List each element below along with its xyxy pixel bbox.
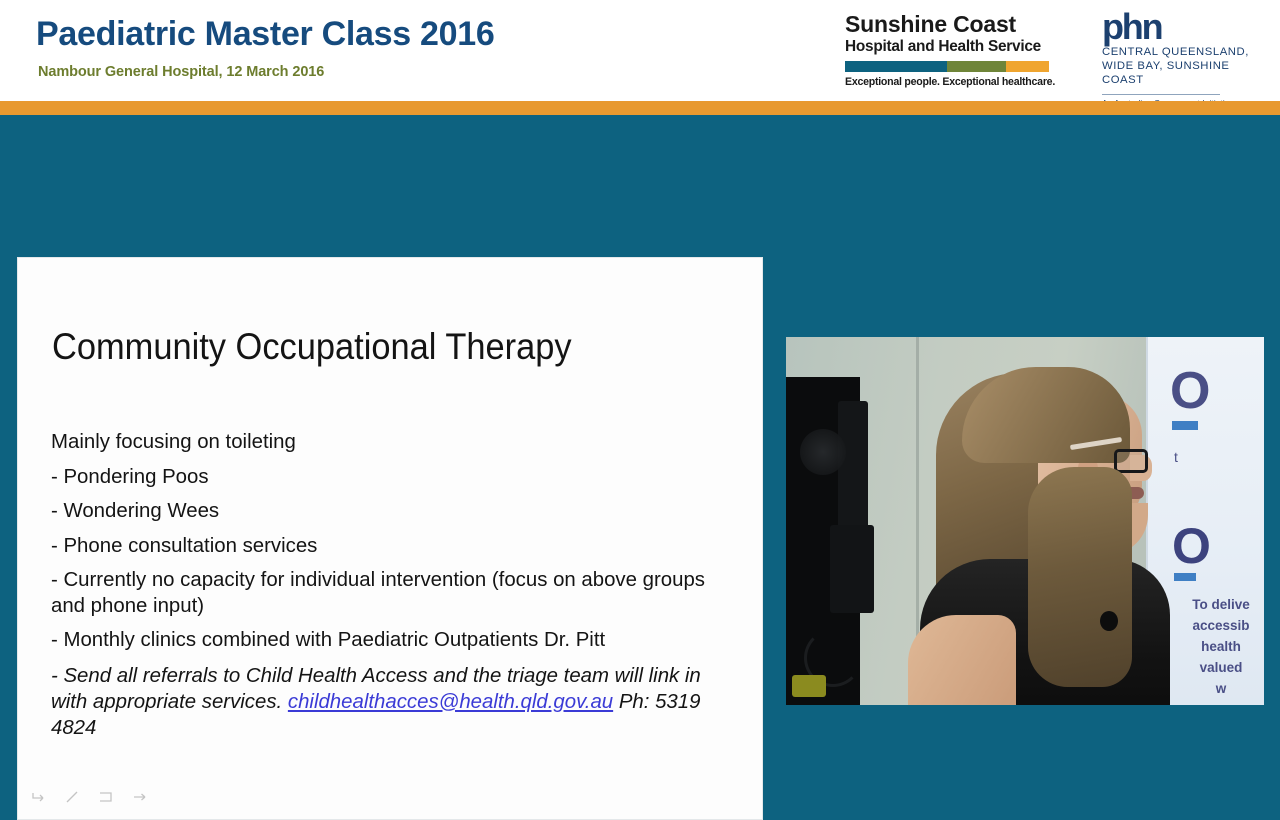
sunshine-coast-color-bar	[845, 61, 1049, 72]
speaker-hair-front	[1028, 467, 1132, 687]
slide-bullet-2: - Wondering Wees	[51, 499, 719, 525]
rectangle-icon[interactable]	[95, 786, 117, 808]
sunshine-coast-tagline: Exceptional people. Exceptional healthca…	[845, 76, 1051, 88]
slide-bullet-1: - Pondering Poos	[51, 465, 719, 491]
equipment-fan	[800, 429, 846, 475]
slide-bullet-0: Mainly focusing on toileting	[51, 430, 719, 456]
slide-referral-note: - Send all referrals to Child Health Acc…	[51, 663, 719, 741]
slide-body: Mainly focusing on toileting - Pondering…	[51, 430, 719, 741]
equipment-box	[830, 525, 874, 613]
speaker-video[interactable]: O t O To delive accessib health valued w	[786, 337, 1264, 705]
equipment-silhouette	[786, 377, 860, 705]
presenter-tool-strip[interactable]	[27, 786, 151, 808]
equipment-yellow-object	[792, 675, 826, 697]
next-arrow-icon[interactable]	[129, 786, 151, 808]
page-header: Paediatric Master Class 2016 Nambour Gen…	[0, 0, 1280, 101]
sunshine-coast-logo-line1: Sunshine Coast	[845, 12, 1051, 37]
sunshine-coast-logo: Sunshine Coast Hospital and Health Servi…	[845, 12, 1051, 88]
slide-bullet-3: - Phone consultation services	[51, 534, 719, 560]
phn-divider	[1102, 94, 1220, 95]
referral-email-link[interactable]: childhealthacces@health.qld.gov.au	[288, 691, 613, 713]
sunshine-coast-logo-line2: Hospital and Health Service	[845, 38, 1051, 56]
phn-region-line2: WIDE BAY, SUNSHINE COAST	[1102, 59, 1267, 87]
color-bar-segment-teal	[845, 61, 947, 72]
slide-bullet-4: - Currently no capacity for individual i…	[51, 568, 719, 619]
color-bar-segment-green	[947, 61, 1006, 72]
phn-region-line1: CENTRAL QUEENSLAND,	[1102, 45, 1267, 59]
presentation-stage: Community Occupational Therapy Mainly fo…	[0, 115, 1280, 720]
phn-region: CENTRAL QUEENSLAND, WIDE BAY, SUNSHINE C…	[1102, 45, 1267, 87]
color-bar-segment-orange	[1006, 61, 1049, 72]
phn-logo: phn CENTRAL QUEENSLAND, WIDE BAY, SUNSHI…	[1102, 10, 1267, 108]
slide-title: Community Occupational Therapy	[52, 328, 572, 367]
speaker-microphone	[1100, 611, 1118, 631]
page-title: Paediatric Master Class 2016	[36, 15, 494, 54]
slide-panel: Community Occupational Therapy Mainly fo…	[17, 257, 763, 820]
speaker-glasses-lens	[1114, 449, 1148, 473]
slide-bullet-5: - Monthly clinics combined with Paediatr…	[51, 628, 719, 654]
speaker-figure	[902, 363, 1192, 705]
speaker-arm	[908, 615, 1016, 705]
page-subtitle: Nambour General Hospital, 12 March 2016	[38, 64, 324, 80]
pen-icon[interactable]	[61, 786, 83, 808]
pointer-arrow-icon[interactable]	[27, 786, 49, 808]
orange-accent-bar	[0, 101, 1280, 115]
phn-wordmark: phn	[1102, 10, 1267, 44]
